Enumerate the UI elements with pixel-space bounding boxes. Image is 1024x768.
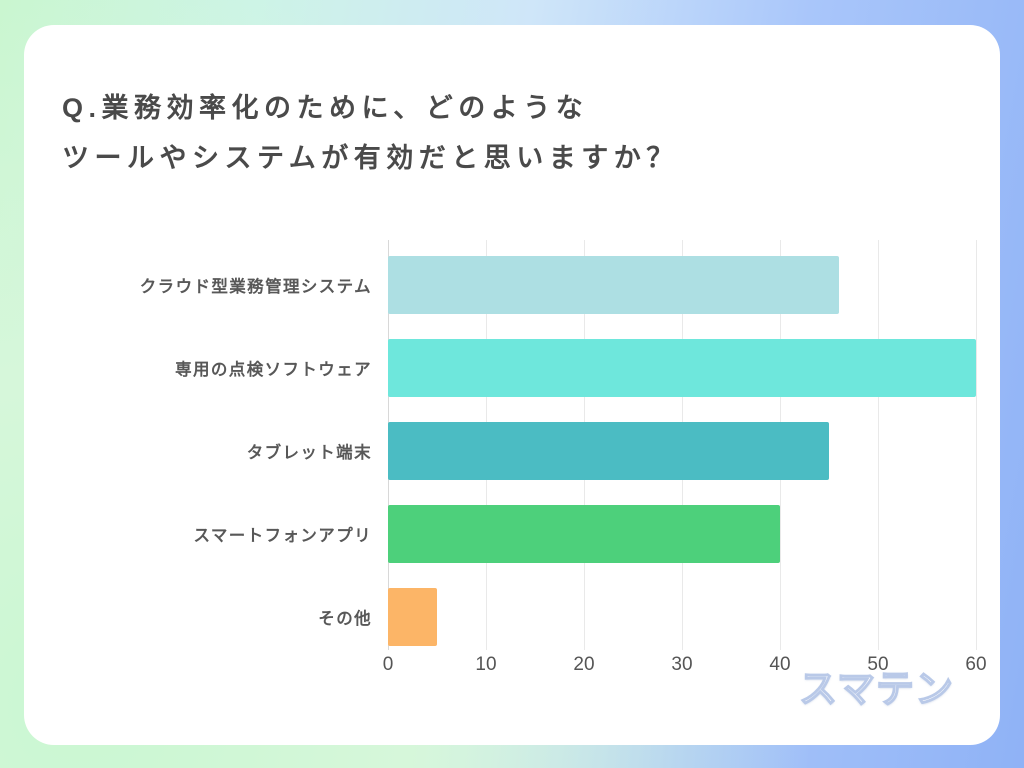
xtick-label-0: 0 [383,654,394,676]
category-label-1: クラウド型業務管理システム [72,273,372,297]
bar-3 [388,422,829,480]
gridline-60 [976,240,977,650]
page-title: Q.業務効率化のために、どのような ツールやシステムが有効だと思いますか？ [62,83,942,183]
bar-fill [388,256,839,314]
xtick-label-60: 60 [965,654,986,676]
slide-canvas: Q.業務効率化のために、どのような ツールやシステムが有効だと思いますか？ クラ… [0,0,1024,768]
plot-area [388,240,976,650]
bar-fill [388,339,976,397]
category-label-4: スマートフォンアプリ [72,522,372,546]
bar-fill [388,422,829,480]
bar-fill [388,588,437,646]
xtick-label-30: 30 [671,654,692,676]
title-line-2: ツールやシステムが有効だと思いますか？ [62,133,942,183]
category-label-3: タブレット端末 [72,439,372,463]
bar-4 [388,505,780,563]
category-axis-labels: クラウド型業務管理システム専用の点検ソフトウェアタブレット端末スマートフォンアプ… [62,240,372,650]
bar-5 [388,588,437,646]
bar-2 [388,339,976,397]
bar-chart: クラウド型業務管理システム専用の点検ソフトウェアタブレット端末スマートフォンアプ… [62,230,972,690]
brand-logo: スマテン [799,658,954,713]
xtick-label-40: 40 [769,654,790,676]
xtick-label-20: 20 [573,654,594,676]
content-card: Q.業務効率化のために、どのような ツールやシステムが有効だと思いますか？ クラ… [24,25,1000,745]
bar-1 [388,256,839,314]
category-label-5: その他 [72,605,372,629]
bar-fill [388,505,780,563]
gridline-50 [878,240,879,650]
title-line-1: Q.業務効率化のために、どのような [62,83,942,133]
category-label-2: 専用の点検ソフトウェア [72,356,372,380]
xtick-label-10: 10 [475,654,496,676]
